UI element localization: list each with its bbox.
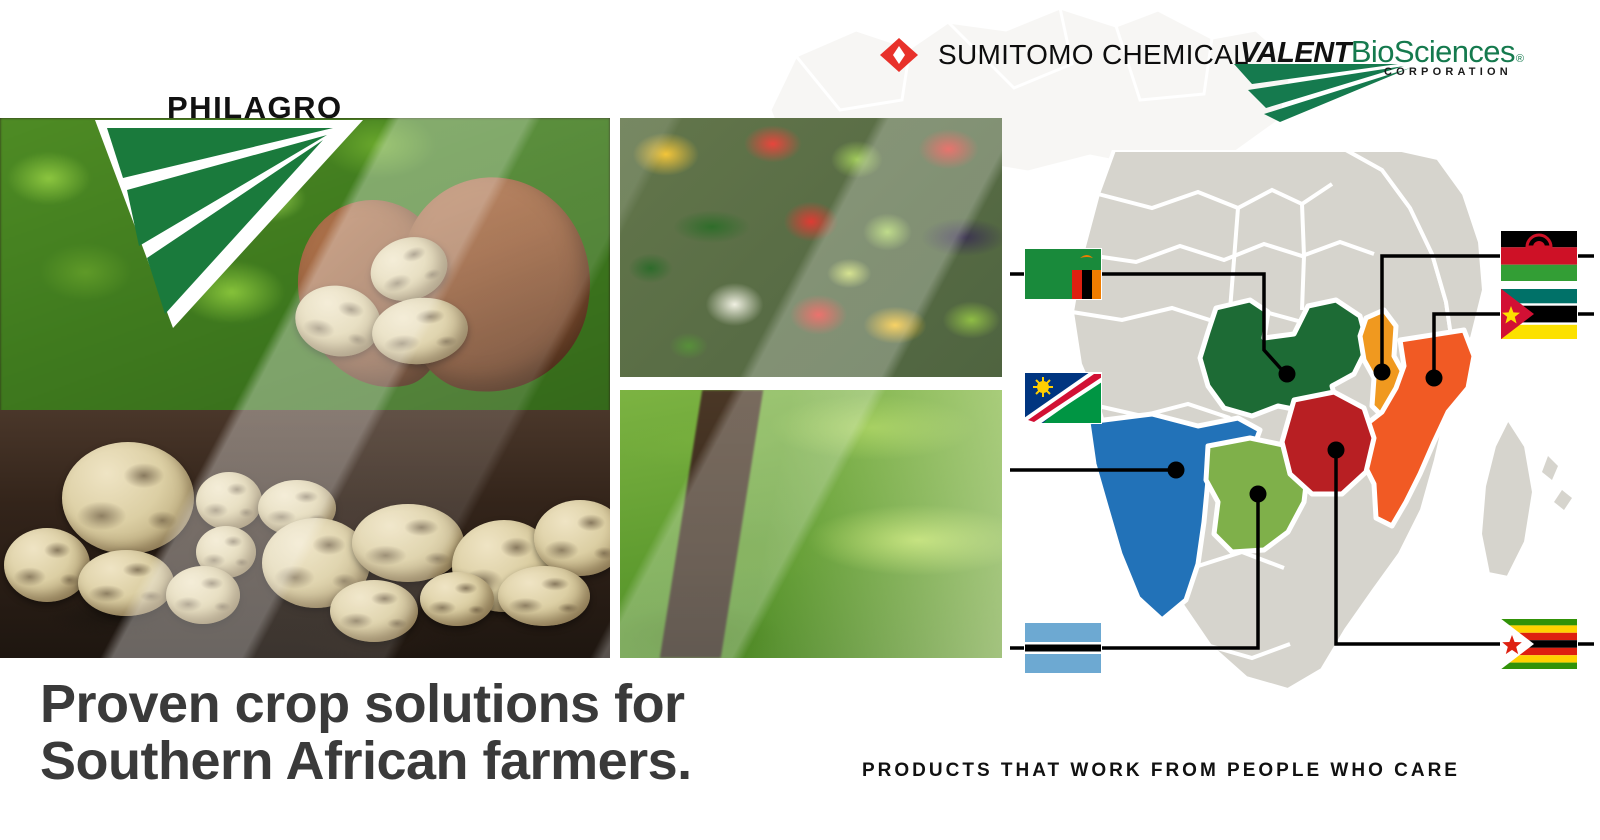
- vegetable-layer: [620, 118, 1002, 377]
- southern-africa-map: [1002, 150, 1600, 720]
- philagro-wordmark: PHILAGRO: [167, 90, 343, 126]
- botswana-flag: [1024, 622, 1102, 674]
- sumitomo-chemical-logo: SUMITOMO CHEMICAL: [872, 34, 1249, 76]
- dot-mozambique: [1426, 370, 1443, 387]
- dot-malawi: [1374, 364, 1391, 381]
- biosciences-wordmark: BioSciences: [1351, 34, 1515, 70]
- zimbabwe-flag: [1500, 618, 1578, 670]
- headline-line-1: Proven crop solutions for: [40, 676, 692, 733]
- philagro-logo: PHILAGRO: [95, 78, 395, 328]
- mozambique-flag: [1500, 288, 1578, 340]
- tagline: PRODUCTS THAT WORK FROM PEOPLE WHO CARE: [862, 760, 1460, 782]
- headline: Proven crop solutions for Southern Afric…: [40, 676, 692, 790]
- namibia-flag: [1024, 372, 1102, 424]
- country-zimbabwe: [1282, 392, 1374, 494]
- small-island-a: [1542, 456, 1558, 480]
- potato-pile: [0, 420, 610, 658]
- madagascar-landmass: [1480, 418, 1534, 578]
- dot-namibia: [1168, 462, 1185, 479]
- photo-mixed-vegetables: [620, 118, 1002, 377]
- sumitomo-wordmark: SUMITOMO CHEMICAL: [938, 39, 1249, 71]
- small-island-b: [1554, 490, 1572, 510]
- headline-line-2: Southern African farmers.: [40, 733, 692, 790]
- dot-zimbabwe: [1328, 442, 1345, 459]
- corporation-wordmark: CORPORATION: [1384, 66, 1512, 78]
- zambia-flag: [1024, 248, 1102, 300]
- photo-soybean-field: [620, 390, 1002, 658]
- dot-zambia: [1279, 366, 1296, 383]
- malawi-flag: [1500, 230, 1578, 282]
- banner-canvas: PHILAGRO SUMITOMO CHEMICAL VALENT BioSci…: [0, 0, 1600, 840]
- valent-biosciences-logo: VALENT BioSciences ® CORPORATION: [1222, 26, 1552, 122]
- valent-wordmark: VALENT: [1240, 37, 1351, 70]
- sumitomo-diamond-icon: [872, 34, 926, 76]
- dot-botswana: [1250, 486, 1267, 503]
- registered-mark: ®: [1516, 53, 1524, 65]
